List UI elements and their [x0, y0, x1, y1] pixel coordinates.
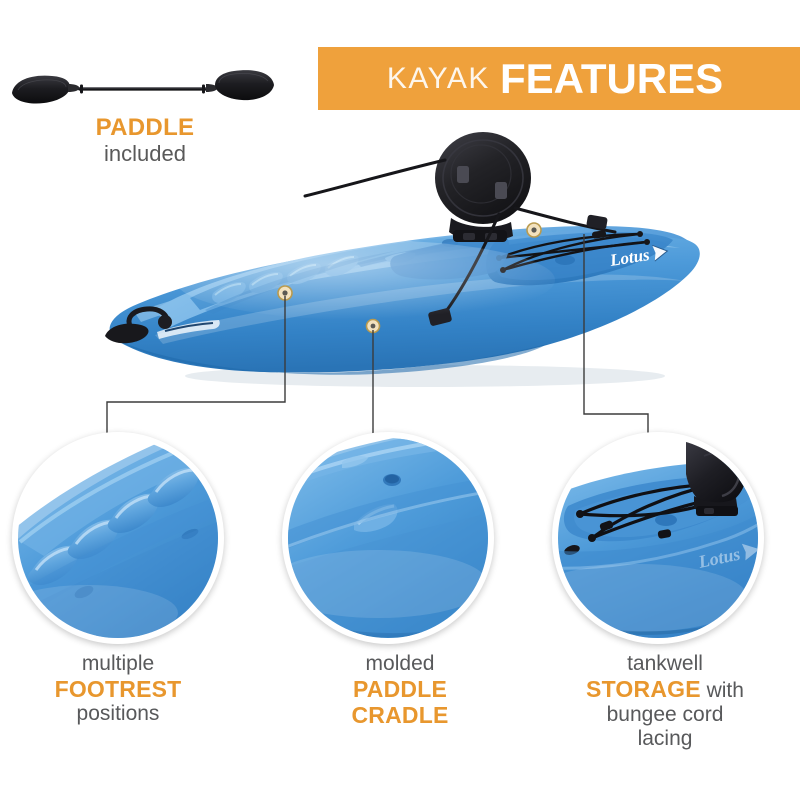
banner-title-text: FEATURES	[500, 58, 723, 100]
caption-storage-line4: lacing	[540, 727, 790, 751]
caption-cradle-line2: PADDLE	[275, 676, 525, 702]
caption-cradle-line3: CRADLE	[275, 702, 525, 728]
paddle-illustration	[8, 60, 278, 120]
paddle-cradle-closeup-image	[288, 438, 488, 638]
caption-tankwell-storage: tankwell STORAGE with bungee cord lacing	[540, 652, 790, 751]
features-banner: KAYAK FEATURES	[318, 47, 800, 110]
caption-storage-line2: STORAGE with	[540, 676, 790, 703]
caption-storage-line3: bungee cord	[540, 703, 790, 727]
caption-footrest-line3: positions	[0, 702, 243, 726]
caption-storage-highlight: STORAGE	[586, 676, 701, 702]
kayak-hero-svg: Lotus	[95, 130, 715, 400]
paddle-icon	[8, 60, 278, 120]
callout-marker-footrest	[278, 286, 292, 300]
caption-footrest-line2: FOOTREST	[0, 676, 243, 702]
caption-footrest: multiple FOOTREST positions	[0, 652, 243, 726]
footrest-closeup-image	[18, 438, 218, 638]
detail-circle-paddle-cradle	[282, 432, 494, 644]
kayak-seat	[435, 132, 531, 242]
banner-eyebrow-text: KAYAK	[387, 62, 490, 96]
detail-circle-tankwell-storage: Lotus	[552, 432, 764, 644]
caption-paddle-cradle: molded PADDLE CRADLE	[275, 652, 525, 728]
callout-marker-cradle	[367, 320, 380, 333]
detail-circle-footrest	[12, 432, 224, 644]
callout-marker-storage	[527, 223, 541, 237]
paddle-blade-right	[215, 70, 274, 100]
caption-cradle-line1: molded	[275, 652, 525, 676]
caption-storage-line1: tankwell	[540, 652, 790, 676]
caption-storage-line2-suffix: with	[701, 679, 744, 702]
kayak-hero-illustration: Lotus	[95, 130, 715, 400]
tankwell-storage-closeup-image: Lotus	[558, 438, 758, 638]
caption-footrest-line1: multiple	[0, 652, 243, 676]
